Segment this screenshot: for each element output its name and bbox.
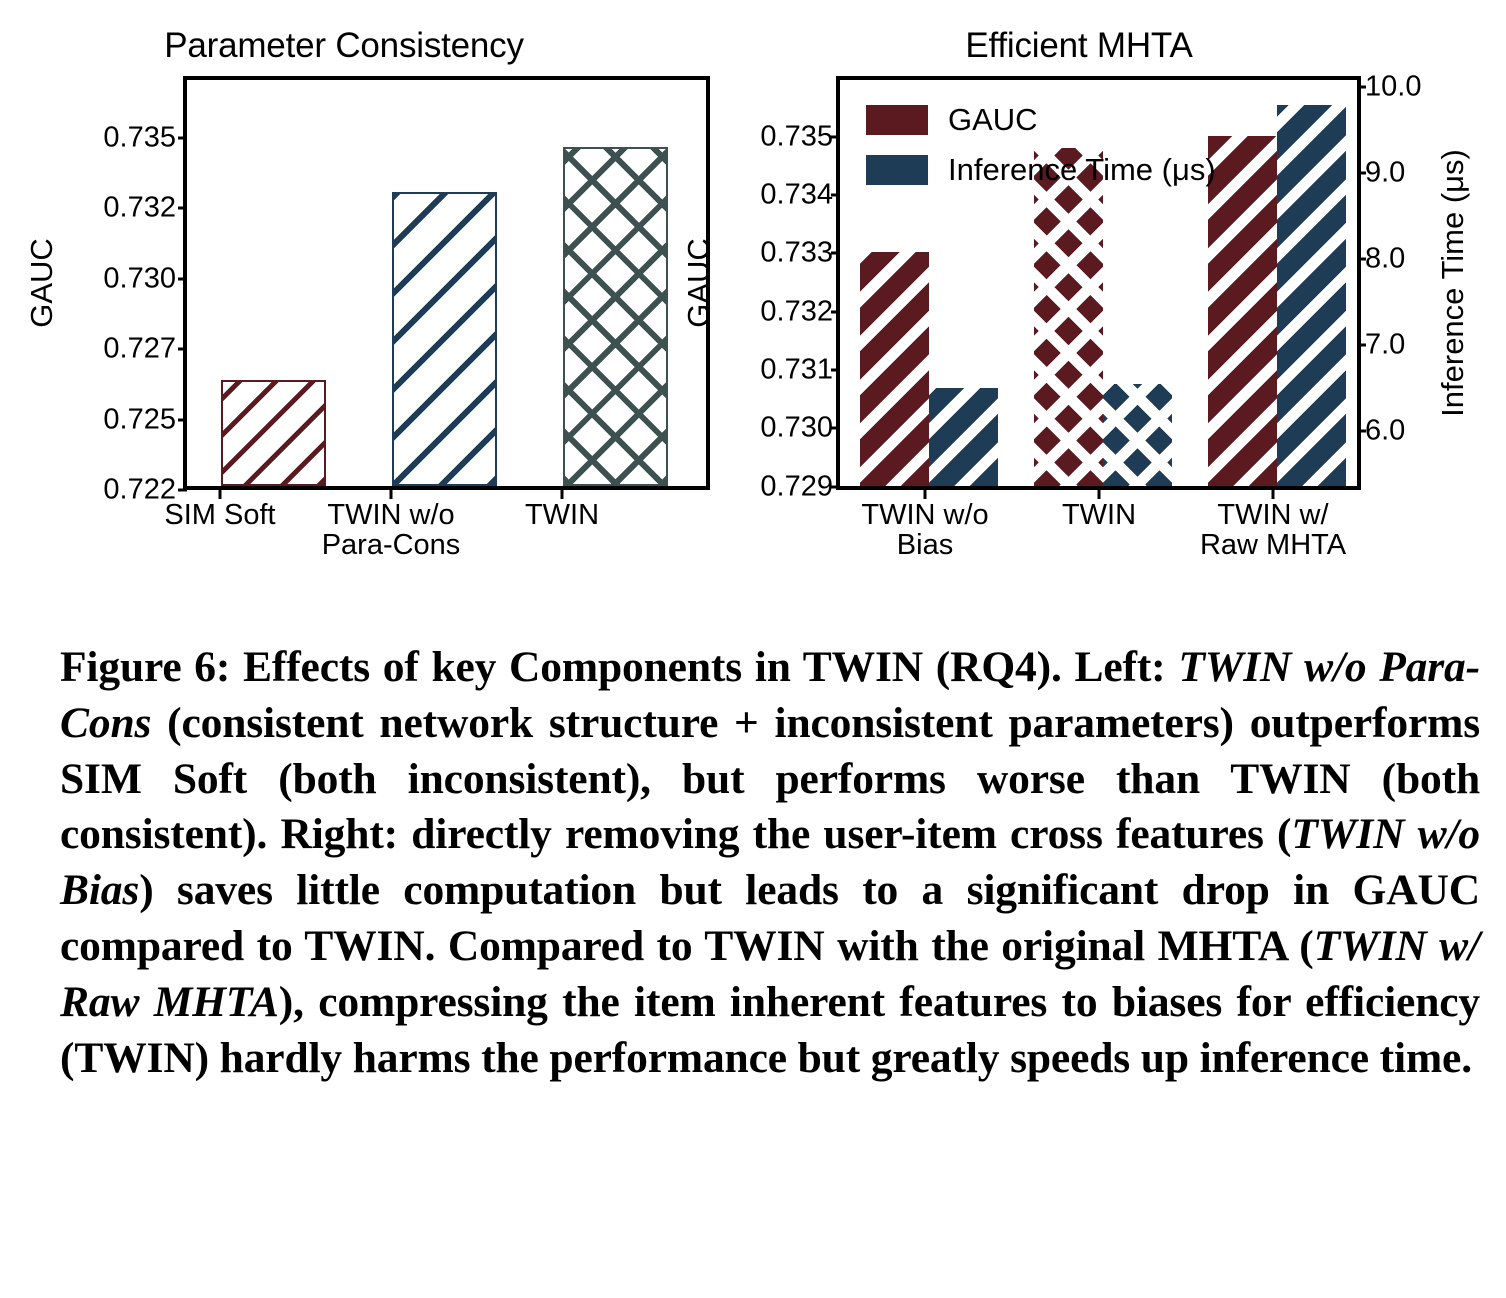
y-tick-label: 0.733 [760,237,833,270]
y-axis-ticks-right-panel: 0.729 0.730 0.731 0.732 0.733 0.734 0.73… [713,76,833,490]
y-tick-mark [831,485,840,488]
chart-legend: GAUC Inference Time (μs) [866,98,1216,198]
y-tick-label: 0.725 [103,403,176,436]
y-tick-label-right: 8.0 [1365,243,1405,276]
y-tick-label: 0.734 [760,179,833,212]
y-axis-ticks-secondary: 6.0 7.0 8.0 9.0 10.0 [1365,76,1455,490]
x-tick-label-twin: TWIN [525,500,599,530]
y-tick-mark [178,489,187,492]
y-tick-label: 0.735 [760,120,833,153]
y-tick-label-right: 10.0 [1365,71,1421,104]
x-tick-label-twin-wo-para-cons: TWIN w/o Para-Cons [322,500,461,561]
y-tick-label-right: 7.0 [1365,329,1405,362]
chart-title-left: Parameter Consistency [0,26,704,66]
y-tick-mark [831,252,840,255]
x-tick-mark [219,490,222,499]
y-tick-label: 0.731 [760,353,833,386]
y-tick-mark-right [1357,258,1366,261]
legend-item-gauc: GAUC [866,98,1216,142]
x-tick-mark [390,490,393,499]
bar-inference-twin-wo-bias [929,388,998,486]
bar-inference-twin-raw-mhta [1277,105,1346,486]
x-tick-mark [924,490,927,499]
y-tick-mark-right [1357,172,1366,175]
legend-label-inference-time: Inference Time (μs) [948,152,1216,188]
bar-twin [563,147,668,486]
y-tick-mark [178,277,187,280]
y-tick-mark [831,368,840,371]
y-tick-mark [831,194,840,197]
y-tick-label: 0.727 [103,333,176,366]
x-tick-mark [1272,490,1275,499]
y-tick-label: 0.732 [103,192,176,225]
y-tick-mark [178,207,187,210]
chart-parameter-consistency: Parameter Consistency GAUC 0.722 0.725 0… [20,0,740,600]
chart-efficient-mhta: Efficient MHTA GAUC Inference Time (μs) … [735,0,1495,600]
x-tick-mark [1098,490,1101,499]
y-tick-mark-right [1357,430,1366,433]
y-axis-label-left: GAUC [24,238,60,328]
y-tick-mark-right [1357,344,1366,347]
y-tick-label: 0.735 [103,122,176,155]
x-tick-label-twin-raw-mhta: TWIN w/ Raw MHTA [1200,500,1346,561]
chart-title-right: Efficient MHTA [699,26,1459,66]
y-axis-ticks-left: 0.722 0.725 0.727 0.730 0.732 0.735 [56,76,176,490]
y-tick-mark [831,310,840,313]
y-tick-label: 0.730 [760,412,833,445]
bar-sim-soft [221,380,326,486]
x-tick-label-twin: TWIN [1062,500,1136,530]
plot-area-left [183,76,710,490]
y-tick-mark-right [1357,86,1366,89]
y-tick-mark [178,348,187,351]
bar-gauc-twin-raw-mhta [1208,136,1277,486]
legend-item-inference-time: Inference Time (μs) [866,148,1216,192]
y-tick-label-right: 6.0 [1365,415,1405,448]
legend-label-gauc: GAUC [948,102,1038,138]
x-tick-mark [561,490,564,499]
y-tick-mark [831,135,840,138]
y-tick-mark [831,427,840,430]
x-tick-label-twin-wo-bias: TWIN w/o Bias [861,500,988,561]
y-axis-label-right-panel: GAUC [681,238,717,328]
y-tick-label-right: 9.0 [1365,157,1405,190]
bar-twin-wo-para-cons [392,192,497,486]
y-tick-mark [178,418,187,421]
legend-swatch-inference-time [866,155,928,185]
y-tick-label: 0.730 [103,262,176,295]
bar-gauc-twin-wo-bias [860,252,929,486]
bar-gauc-twin [1034,148,1103,486]
plot-area-right: GAUC Inference Time (μs) [836,76,1361,490]
y-tick-mark [178,137,187,140]
legend-swatch-gauc [866,105,928,135]
y-tick-label: 0.732 [760,295,833,328]
y-tick-label: 0.729 [760,470,833,503]
x-tick-label-sim-soft: SIM Soft [164,500,275,530]
figure-caption: Figure 6: Effects of key Components in T… [60,640,1480,1086]
bar-inference-twin [1103,384,1172,486]
figure-panel-row: Parameter Consistency GAUC 0.722 0.725 0… [0,0,1506,600]
